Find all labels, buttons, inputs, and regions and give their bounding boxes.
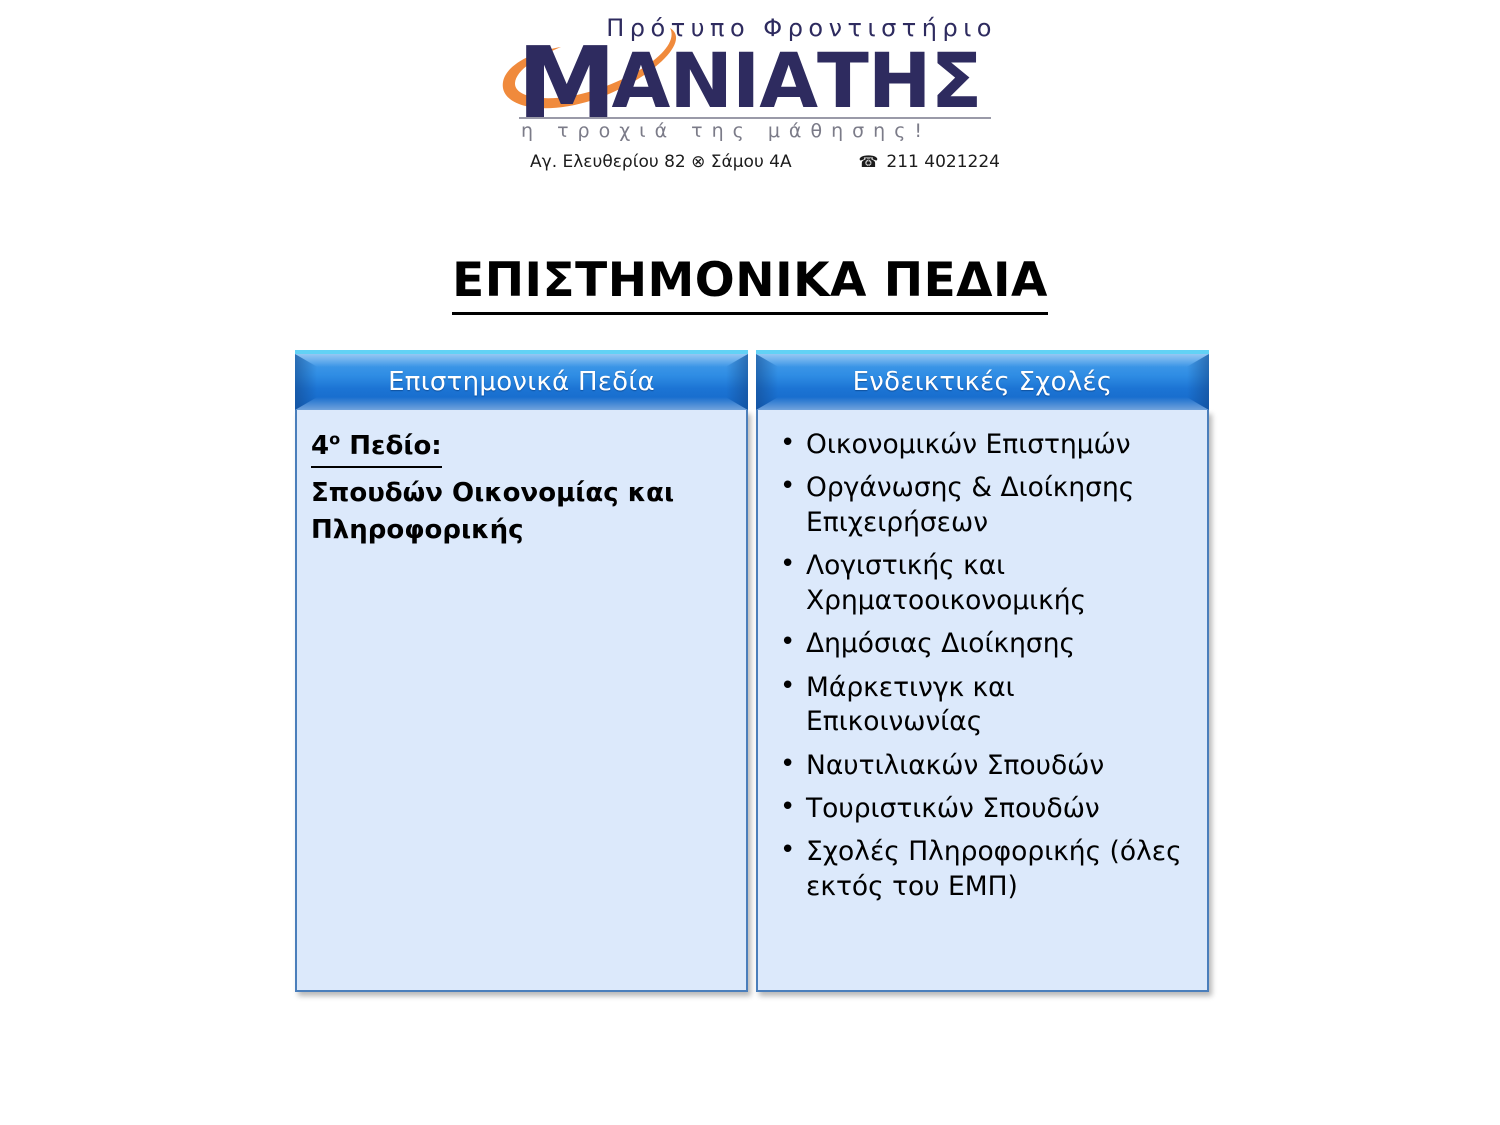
list-item: Τουριστικών Σπουδών — [772, 792, 1191, 826]
letterhead: Πρότυπο Φροντιστήριο MΑΝΙΑΤΗΣ η τροχιά τ… — [0, 0, 1500, 195]
field-number: 4 — [311, 431, 329, 461]
list-item: Ναυτιλιακών Σπουδών — [772, 749, 1191, 783]
slide-page: Πρότυπο Φροντιστήριο MΑΝΙΑΤΗΣ η τροχιά τ… — [0, 0, 1500, 1125]
bevel-highlight-top — [295, 354, 748, 367]
bevel-highlight-bottom — [295, 397, 748, 410]
column-header-fields: Επιστημονικά Πεδία — [295, 350, 748, 410]
page-title: ΕΠΙΣΤΗΜΟΝΙΚΑ ΠΕΔΙΑ — [0, 253, 1500, 308]
phone-icon: ☎ — [858, 154, 878, 170]
column-header-schools: Ενδεικτικές Σχολές — [756, 350, 1209, 410]
field-label: Πεδίο: — [340, 431, 442, 461]
field-title: 4ο Πεδίο: — [311, 428, 442, 468]
contact-row: Αγ. Ελευθερίου 82 ⊗ Σάμου 4Α ☎ 211 40212… — [530, 152, 1000, 172]
column-header-fields-label: Επιστημονικά Πεδία — [388, 367, 655, 397]
table-cell-schools: Οικονομικών ΕπιστημώνΟργάνωσης & Διοίκησ… — [756, 410, 1209, 992]
brand-name: MΑΝΙΑΤΗΣ — [517, 34, 981, 134]
bevel-highlight-top — [756, 354, 1209, 367]
table-column-fields: Επιστημονικά Πεδία 4ο Πεδίο: Σπουδών Οικ… — [295, 350, 748, 992]
list-item: Δημόσιας Διοίκησης — [772, 627, 1191, 661]
list-item: Λογιστικής και Χρηματοοικονομικής — [772, 549, 1191, 618]
column-header-schools-label: Ενδεικτικές Σχολές — [853, 367, 1113, 397]
field-ordinal-suffix: ο — [329, 429, 340, 448]
brand-name-rest: ΑΝΙΑΤΗΣ — [612, 36, 982, 125]
list-item: Μάρκετινγκ και Επικοινωνίας — [772, 671, 1191, 740]
list-item: Οικονομικών Επιστημών — [772, 428, 1191, 462]
page-title-text: ΕΠΙΣΤΗΜΟΝΙΚΑ ΠΕΔΙΑ — [452, 253, 1048, 315]
field-description: Σπουδών Οικονομίας και Πληροφορικής — [311, 475, 730, 549]
fields-table: Επιστημονικά Πεδία 4ο Πεδίο: Σπουδών Οικ… — [295, 350, 1210, 992]
phone-block: ☎ 211 4021224 — [858, 152, 1000, 172]
brand-tagline: η τροχιά της μάθησης! — [521, 120, 993, 142]
table-column-schools: Ενδεικτικές Σχολές Οικονομικών Επιστημών… — [756, 350, 1209, 992]
phone-number: 211 4021224 — [886, 152, 1000, 172]
bevel-highlight-bottom — [756, 397, 1209, 410]
field-block: 4ο Πεδίο: Σπουδών Οικονομίας και Πληροφο… — [311, 428, 730, 549]
address-text: Αγ. Ελευθερίου 82 ⊗ Σάμου 4Α — [530, 152, 792, 172]
company-logo: Πρότυπο Φροντιστήριο MΑΝΙΑΤΗΣ η τροχιά τ… — [497, 14, 997, 139]
table-cell-field: 4ο Πεδίο: Σπουδών Οικονομίας και Πληροφο… — [295, 410, 748, 992]
logo-divider — [519, 117, 991, 119]
list-item: Οργάνωσης & Διοίκησης Επιχειρήσεων — [772, 471, 1191, 540]
list-item: Σχολές Πληροφορικής (όλες εκτός του ΕΜΠ) — [772, 835, 1191, 904]
schools-list: Οικονομικών ΕπιστημώνΟργάνωσης & Διοίκησ… — [772, 428, 1191, 904]
